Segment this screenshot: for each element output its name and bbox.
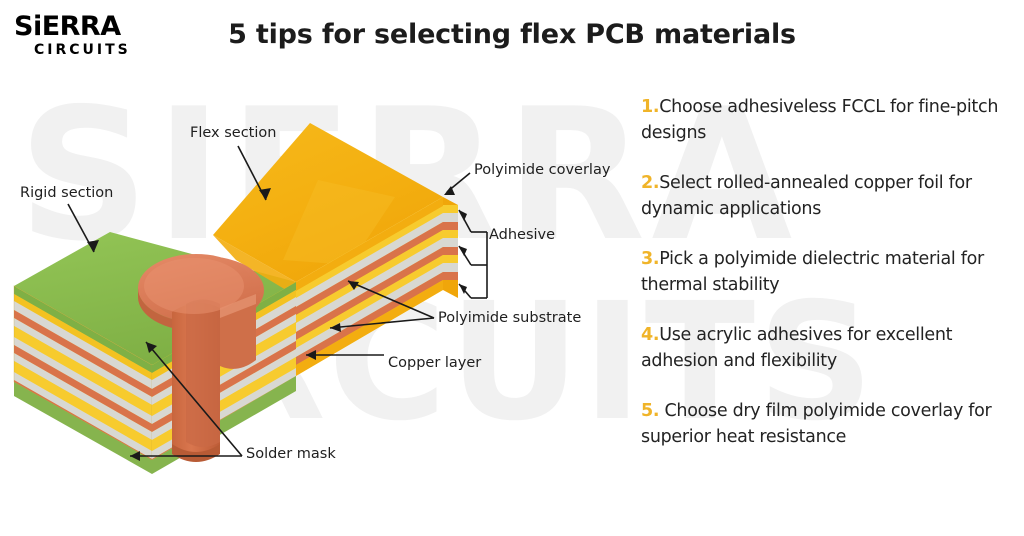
label-flex-section: Flex section [190,124,276,142]
label-rigid-section: Rigid section [20,184,113,202]
tip-2-text: 2.Select rolled-annealed copper foil for… [641,170,1024,222]
tip-3-text: 3.Pick a polyimide dielectric material f… [641,246,1024,298]
pcb-stackup-svg [0,60,660,490]
infographic-page: SIERRA CIRCUITS SiERRA CIRCUITS 5 tips f… [0,0,1024,536]
page-title: 5 tips for selecting flex PCB materials [0,18,1024,52]
tip-5-body: Choose dry film polyimide coverlay for s… [641,401,991,447]
tip-4-body: Use acrylic adhesives for excellent adhe… [641,325,952,371]
tips-list: 1.Choose adhesiveless FCCL for fine-pitc… [641,94,1024,474]
tip-3-number: 3. [641,249,659,269]
flex-end-face [443,197,459,298]
label-polyimide-substrate: Polyimide substrate [438,309,581,327]
label-copper-layer: Copper layer [388,354,481,372]
tip-item-1: 1.Choose adhesiveless FCCL for fine-pitc… [641,94,1024,146]
tip-item-3: 3.Pick a polyimide dielectric material f… [641,246,1024,298]
tip-1-text: 1.Choose adhesiveless FCCL for fine-pitc… [641,94,1024,146]
tip-item-2: 2.Select rolled-annealed copper foil for… [641,170,1024,222]
tip-4-number: 4. [641,325,659,345]
tip-item-5: 5. Choose dry film polyimide coverlay fo… [641,398,1024,450]
tip-5-text: 5. Choose dry film polyimide coverlay fo… [641,398,1024,450]
tip-1-number: 1. [641,97,659,117]
label-solder-mask: Solder mask [246,445,336,463]
tip-4-text: 4.Use acrylic adhesives for excellent ad… [641,322,1024,374]
tip-2-number: 2. [641,173,659,193]
tip-2-body: Select rolled-annealed copper foil for d… [641,173,972,219]
tip-item-4: 4.Use acrylic adhesives for excellent ad… [641,322,1024,374]
pcb-stackup-illustration [0,60,660,490]
tip-5-number: 5. [641,401,659,421]
label-polyimide-coverlay: Polyimide coverlay [474,161,610,179]
tip-3-body: Pick a polyimide dielectric material for… [641,249,984,295]
tip-1-body: Choose adhesiveless FCCL for fine-pitch … [641,97,998,143]
label-adhesive: Adhesive [489,226,555,244]
